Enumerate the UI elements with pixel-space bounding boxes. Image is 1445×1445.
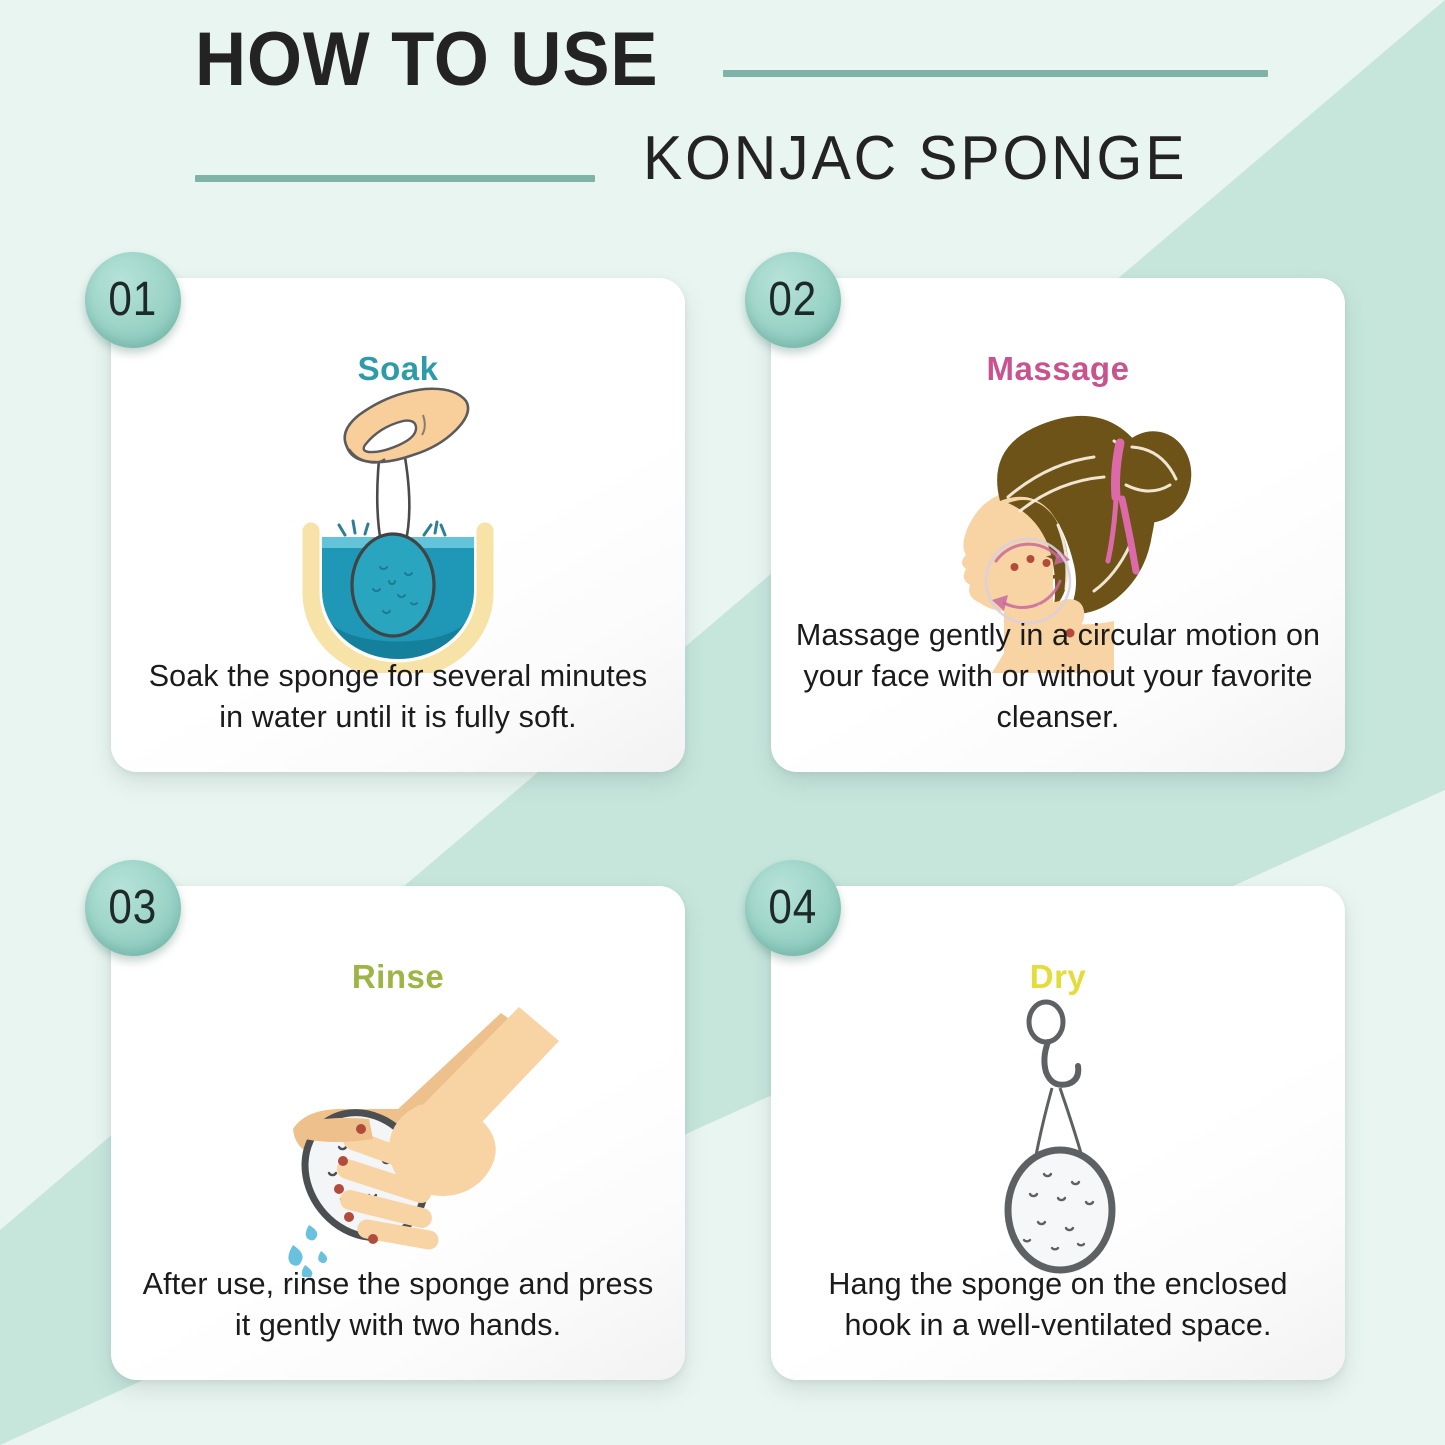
step-number-text: 04: [769, 880, 818, 935]
page-title: HOW TO USE: [195, 22, 659, 98]
step-card-02: Massage: [745, 252, 1345, 772]
rinse-illustration: [111, 991, 685, 1283]
card-surface: Soak: [111, 278, 685, 772]
title-row-secondary: KONJAC SPONGE: [195, 128, 1216, 190]
steps-grid: Soak: [0, 232, 1445, 1412]
step-card-04: Dry: [745, 860, 1345, 1380]
sponge-hanging-on-hook-icon: [968, 996, 1148, 1278]
title-row-primary: HOW TO USE: [195, 22, 1268, 98]
page-subtitle: KONJAC SPONGE: [643, 128, 1187, 190]
step-number-badge-03: 03: [85, 860, 181, 956]
step-card-03: Rinse: [85, 860, 685, 1380]
two-hands-pressing-sponge-icon: [233, 997, 563, 1277]
step-number-text: 02: [769, 272, 818, 327]
step-number-text: 03: [109, 880, 158, 935]
step-number-badge-04: 04: [745, 860, 841, 956]
hand-dipping-sponge-in-bowl-icon: [273, 385, 523, 673]
step-caption-04: Hang the sponge on the enclosed hook in …: [795, 1264, 1321, 1346]
step-card-01: Soak: [85, 252, 685, 772]
step-number-text: 01: [109, 272, 158, 327]
poster-header: HOW TO USE KONJAC SPONGE: [0, 0, 1445, 215]
step-number-badge-01: 01: [85, 252, 181, 348]
soak-illustration: [111, 383, 685, 675]
dry-illustration: [771, 991, 1345, 1283]
infographic-poster: HOW TO USE KONJAC SPONGE Soak: [0, 0, 1445, 1445]
step-number-badge-02: 02: [745, 252, 841, 348]
card-surface: Rinse: [111, 886, 685, 1380]
step-caption-01: Soak the sponge for several minutes in w…: [135, 656, 661, 738]
step-caption-02: Massage gently in a circular motion on y…: [795, 615, 1321, 738]
step-caption-03: After use, rinse the sponge and press it…: [135, 1264, 661, 1346]
card-surface: Dry: [771, 886, 1345, 1380]
rule-top-icon: [723, 70, 1268, 77]
card-surface: Massage: [771, 278, 1345, 772]
rule-bottom-icon: [195, 175, 595, 182]
